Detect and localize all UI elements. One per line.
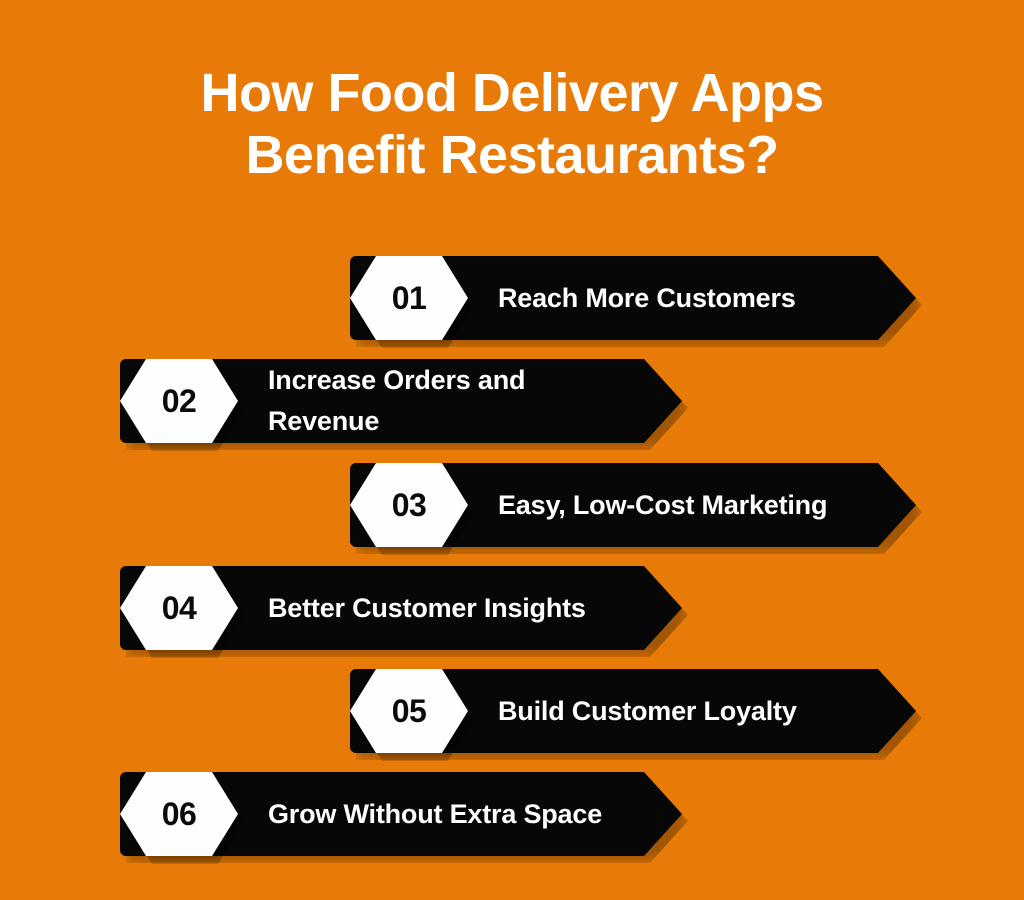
benefit-label: Reach More Customers (498, 278, 842, 319)
badge-number: 02 (162, 385, 197, 417)
title-line-1: How Food Delivery Apps (0, 62, 1024, 124)
benefit-label: Easy, Low-Cost Marketing (498, 485, 873, 526)
benefits-list: Reach More Customers01Increase Orders an… (0, 248, 1024, 868)
badge-number: 06 (162, 798, 197, 830)
benefit-label: Better Customer Insights (268, 588, 632, 629)
benefit-label: Grow Without Extra Space (268, 794, 648, 835)
badge-number: 04 (162, 592, 197, 624)
benefit-label: Increase Orders and Revenue (268, 360, 571, 442)
infographic-poster: How Food Delivery Apps Benefit Restauran… (0, 0, 1024, 900)
benefit-label: Build Customer Loyalty (498, 691, 843, 732)
badge-number: 05 (392, 695, 427, 727)
page-title: How Food Delivery Apps Benefit Restauran… (0, 62, 1024, 186)
title-line-2: Benefit Restaurants? (0, 124, 1024, 186)
badge-number: 01 (392, 282, 427, 314)
badge-number: 03 (392, 489, 427, 521)
